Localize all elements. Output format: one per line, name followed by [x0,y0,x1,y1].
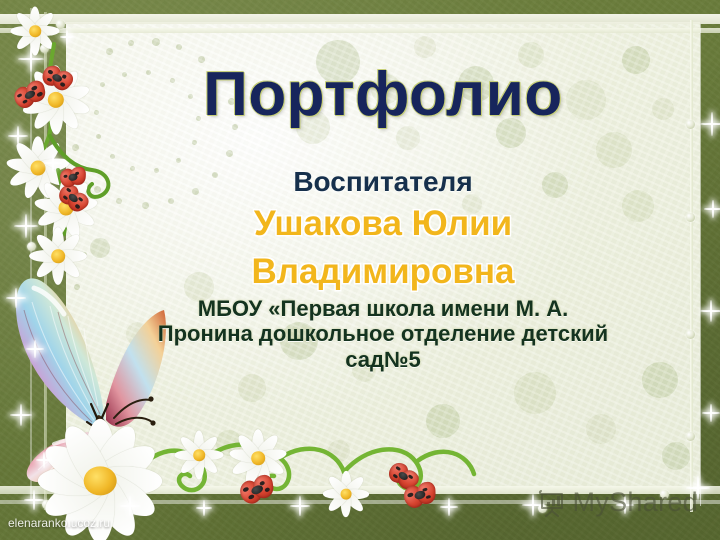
presentation-slide: Портфолио Воспитателя Ушакова Юлии Влади… [0,0,720,540]
presentation-chart-icon [537,488,567,518]
source-site-watermark: elenaranko.ucoz.ru [8,516,110,530]
teacher-name-line1: Ушакова Юлии [254,202,512,246]
myshared-label: MyShared [573,487,698,518]
frame-right-line-outer [700,24,701,506]
teacher-name-line2: Владимировна [252,250,515,294]
slide-text-block: Портфолио Воспитателя Ушакова Юлии Влади… [66,22,700,494]
pearl-dot [27,242,36,251]
myshared-watermark: MyShared [537,487,698,518]
role-label: Воспитателя [293,166,472,198]
school-name: МБОУ «Первая школа имени М. А. Пронина д… [148,296,618,374]
page-title: Портфолио [203,64,563,126]
